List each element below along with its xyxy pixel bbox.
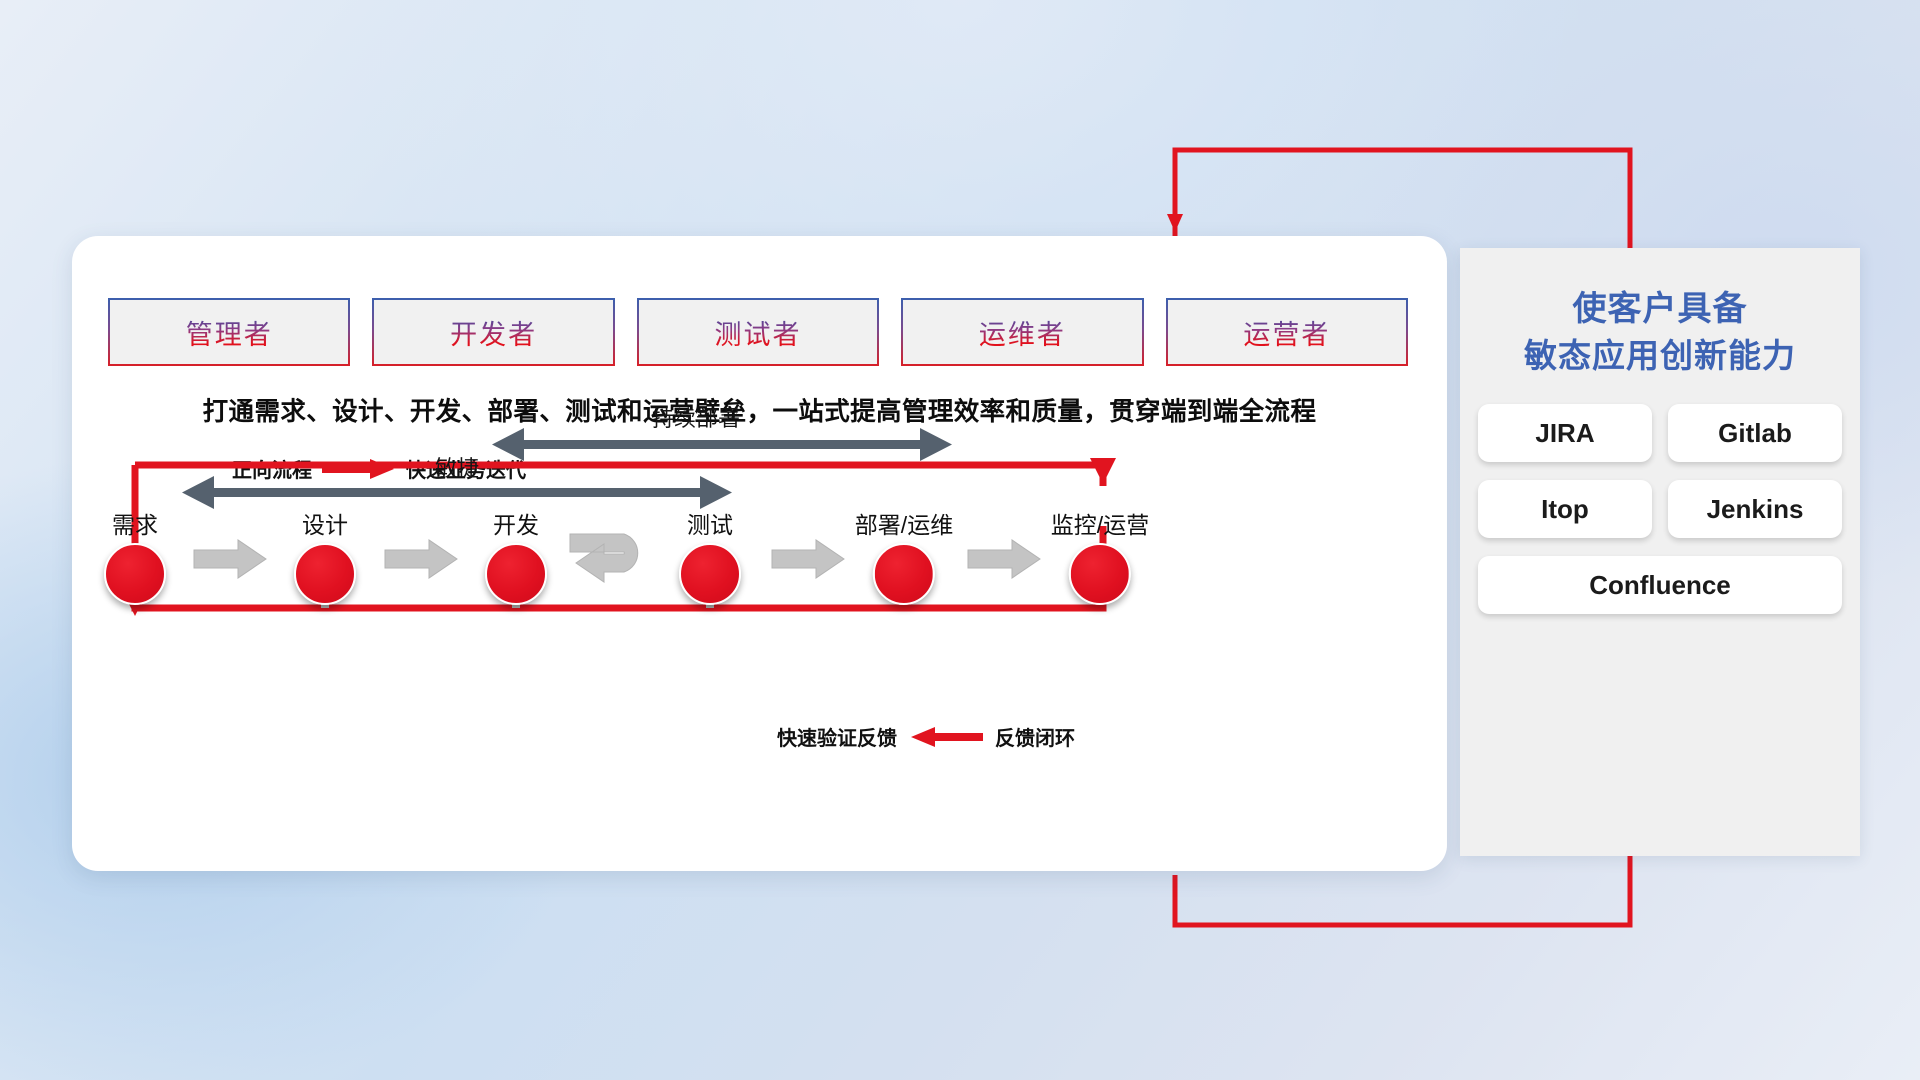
- agile-span-label: 敏捷: [435, 451, 479, 483]
- tool-panel: 使客户具备 敏态应用创新能力 JIRA Gitlab Itop Jenkins …: [1460, 248, 1860, 856]
- node-label-3: 测试: [679, 506, 741, 540]
- node-dot-1: [294, 543, 356, 605]
- tool-pill-gitlab[interactable]: Gitlab: [1668, 404, 1842, 462]
- flow-diagram: [72, 236, 1447, 871]
- node-dot-0: [104, 543, 166, 605]
- tool-panel-title-line1: 使客户具备: [1460, 286, 1860, 333]
- loop-back-icon: [568, 528, 664, 590]
- node-label-0: 需求: [104, 506, 166, 540]
- slide-canvas: 管理者 开发者 测试者 运维者 运营者 打通需求、设计、开发、部署、测试和运营壁…: [0, 0, 1920, 1080]
- pipeline-node-4[interactable]: 部署/运维: [855, 506, 953, 605]
- tool-list: JIRA Gitlab Itop Jenkins Confluence: [1478, 404, 1842, 614]
- chevron-arrow-icon-1: [383, 538, 459, 580]
- pipeline-node-3[interactable]: 测试: [679, 506, 741, 605]
- pipeline-node-2[interactable]: 开发: [485, 506, 547, 605]
- pipeline-node-1[interactable]: 设计: [294, 506, 356, 605]
- tool-pill-itop[interactable]: Itop: [1478, 480, 1652, 538]
- node-dot-4: [873, 543, 935, 605]
- node-label-2: 开发: [485, 506, 547, 540]
- node-label-1: 设计: [294, 506, 356, 540]
- node-dot-2: [485, 543, 547, 605]
- node-label-5: 监控/运营: [1051, 506, 1149, 540]
- main-card: 管理者 开发者 测试者 运维者 运营者 打通需求、设计、开发、部署、测试和运营壁…: [72, 236, 1447, 871]
- tool-pill-confluence[interactable]: Confluence: [1478, 556, 1842, 614]
- chevron-arrow-icon-2: [770, 538, 846, 580]
- tool-panel-title: 使客户具备 敏态应用创新能力: [1460, 286, 1860, 378]
- chevron-arrow-icon-3: [966, 538, 1042, 580]
- tool-pill-jenkins[interactable]: Jenkins: [1668, 480, 1842, 538]
- chevron-arrow-icon-0: [192, 538, 268, 580]
- tool-pill-jira[interactable]: JIRA: [1478, 404, 1652, 462]
- cd-span-label: 持续部署: [652, 401, 740, 433]
- tool-panel-title-line2: 敏态应用创新能力: [1460, 333, 1860, 379]
- node-label-4: 部署/运维: [855, 506, 953, 540]
- node-dot-3: [679, 543, 741, 605]
- pipeline-node-5[interactable]: 监控/运营: [1051, 506, 1149, 605]
- pipeline-node-0[interactable]: 需求: [104, 506, 166, 605]
- node-dot-5: [1069, 543, 1131, 605]
